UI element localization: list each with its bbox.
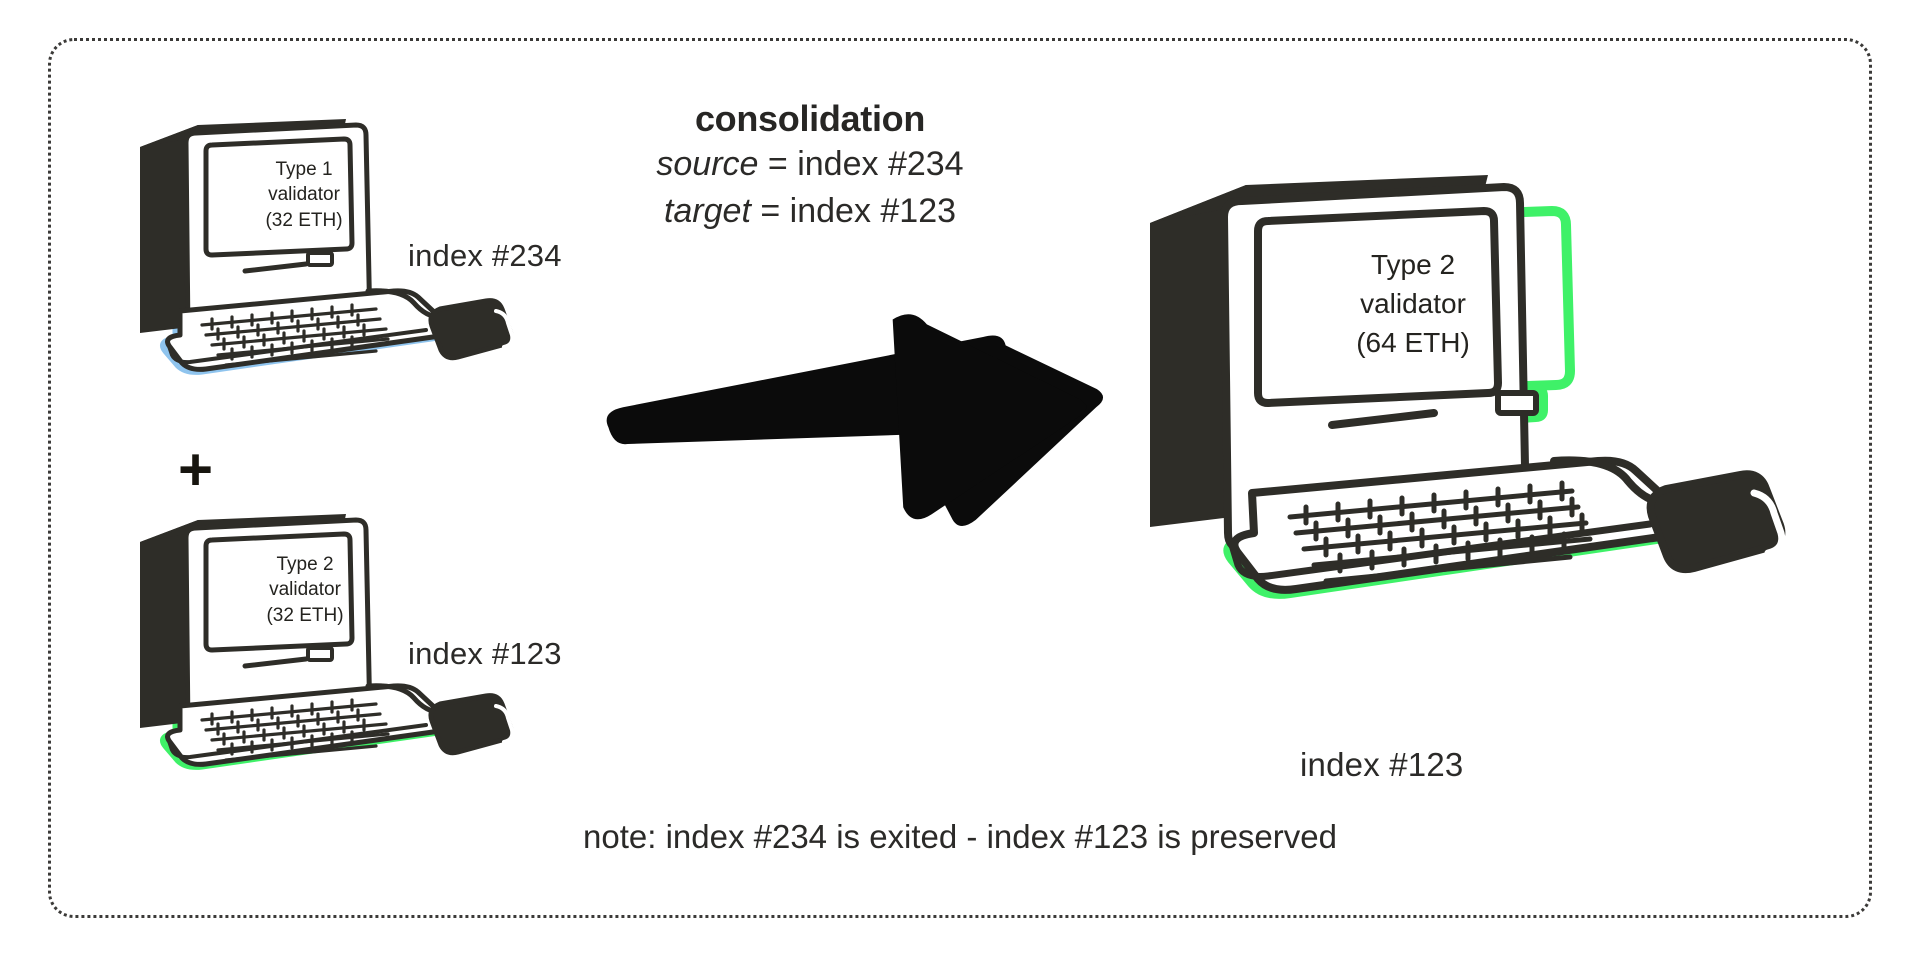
index-label-source: index #234 xyxy=(408,238,562,274)
param-target-eq: = xyxy=(760,192,780,230)
param-target-key: target xyxy=(664,192,751,230)
monitor-screen xyxy=(211,539,347,646)
arrow-icon xyxy=(596,288,1116,538)
index-label-target: index #123 xyxy=(408,636,562,672)
index-label-result: index #123 xyxy=(1300,746,1463,784)
mouse-body xyxy=(431,696,511,753)
param-target: target = index #123 xyxy=(600,188,1020,235)
monitor-screen xyxy=(211,144,347,251)
status-light xyxy=(308,253,332,265)
consolidation-request-arrow: ConsolidationRequest xyxy=(596,288,1116,543)
param-source-value: index #234 xyxy=(797,145,963,183)
consolidation-params: consolidation source = index #234 target… xyxy=(600,96,1020,235)
consolidation-title: consolidation xyxy=(600,96,1020,141)
diagram-note: note: index #234 is exited - index #123 … xyxy=(0,818,1920,856)
diagram-canvas: Type 1 validator (32 ETH) index #234 + xyxy=(0,0,1920,960)
param-source-key: source xyxy=(656,145,758,183)
computer-result-validator xyxy=(1150,155,1830,625)
status-light xyxy=(308,648,332,660)
mouse-body xyxy=(431,301,511,358)
param-target-value: index #123 xyxy=(790,192,956,230)
param-source-eq: = xyxy=(768,145,788,183)
param-source: source = index #234 xyxy=(600,141,1020,188)
computer-illustration-large-green xyxy=(1150,155,1830,625)
mouse-body xyxy=(1651,474,1782,569)
monitor-screen xyxy=(1266,219,1489,395)
plus-operator: + xyxy=(178,440,213,500)
status-light xyxy=(1498,393,1536,413)
